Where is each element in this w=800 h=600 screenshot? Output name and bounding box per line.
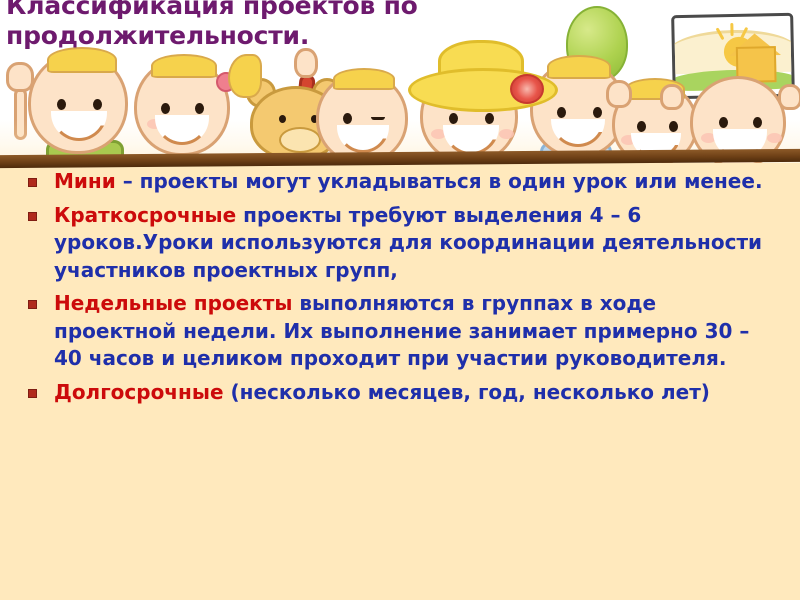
hand-holding-drawing-left (660, 84, 684, 110)
page-title: Классификация проектов по продолжительно… (6, 0, 476, 51)
eye-right (195, 103, 204, 114)
slide-root: Классификация проектов по продолжительно… (0, 0, 800, 600)
list-item: Мини – проекты могут укладываться в один… (24, 168, 776, 196)
list-item: Краткосрочные проекты требуют выделения … (24, 202, 776, 285)
eye-right (93, 99, 102, 110)
left-arm (14, 88, 27, 140)
boy-face-icon (28, 52, 128, 154)
cheek-right (499, 129, 514, 139)
bullet-term: Краткосрочные (54, 203, 236, 227)
kid-girl-pigtails (134, 58, 230, 156)
eye-left (161, 103, 170, 114)
bullet-term: Долгосрочные (54, 380, 224, 404)
eye-right (485, 113, 494, 124)
bullet-list: Мини – проекты могут укладываться в один… (24, 168, 776, 406)
girl-pigtail-face-icon (134, 58, 230, 156)
bullet-term: Недельные проекты (54, 291, 292, 315)
teddy-muzzle (279, 127, 321, 153)
kid-boy-winking (316, 72, 408, 164)
list-item: Недельные проекты выполняются в группах … (24, 290, 776, 373)
list-item: Долгосрочные (несколько месяцев, год, не… (24, 379, 776, 407)
hair (151, 54, 217, 78)
smile (155, 115, 209, 145)
hair (333, 68, 395, 90)
eye-right-winking (371, 117, 385, 120)
eye-left (719, 117, 728, 128)
smile (337, 125, 389, 153)
smile (51, 111, 107, 141)
body-content: Мини – проекты могут укладываться в один… (0, 166, 800, 600)
bullet-text: – проекты могут укладываться в один урок… (116, 169, 763, 193)
raised-hand-icon (606, 80, 632, 108)
title-line-2: продолжительности. (6, 21, 476, 51)
kid-boy-left (28, 52, 128, 154)
smile (551, 119, 605, 147)
bullet-term: Мини (54, 169, 116, 193)
winking-boy-face-icon (316, 72, 408, 164)
red-flower-icon (510, 74, 544, 104)
eye-left (449, 113, 458, 124)
eye-left (343, 113, 352, 124)
teddy-eye-left (279, 115, 286, 123)
pointing-hand-icon (294, 48, 318, 78)
eye-right (669, 121, 678, 132)
waving-hand-icon (6, 62, 34, 92)
eye-left (637, 121, 646, 132)
eye-right (753, 117, 762, 128)
hair (547, 55, 611, 79)
eye-right (593, 107, 602, 118)
cheek-right (767, 133, 782, 143)
hand-holding-drawing-right (778, 84, 800, 110)
title-line-1: Классификация проектов по (6, 0, 418, 20)
eye-left (557, 107, 566, 118)
eye-left (57, 99, 66, 110)
pigtail-icon (228, 54, 262, 98)
bullet-text: (несколько месяцев, год, несколько лет) (224, 380, 710, 404)
